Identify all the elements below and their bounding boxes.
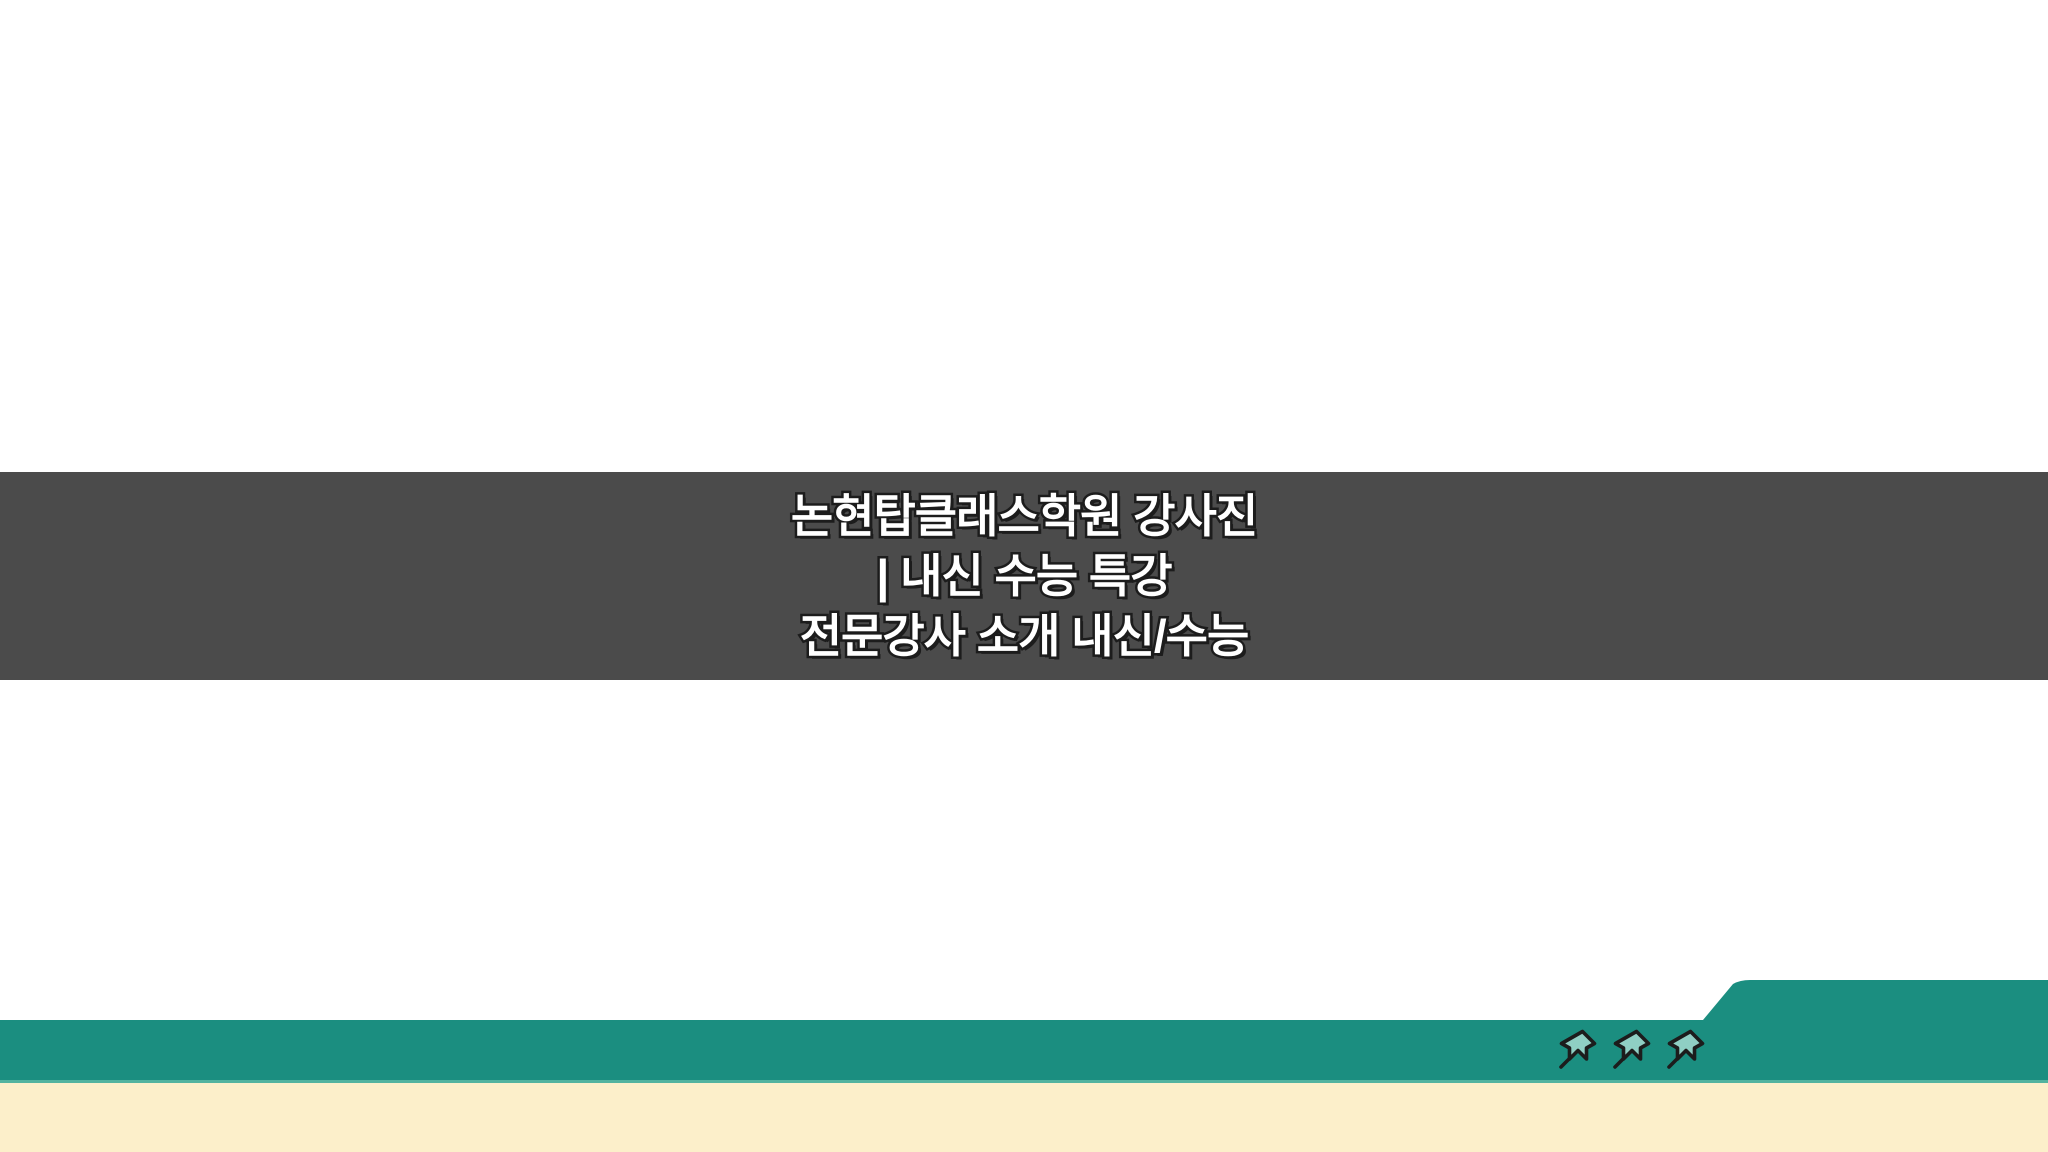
teal-footer-band: [0, 980, 2048, 1083]
title-line-3: 전문강사 소개 내신/수능: [800, 606, 1249, 666]
cream-footer-band: [0, 1083, 2048, 1152]
page-root: 논현탑클래스학원 강사진 | 내신 수능 특강 전문강사 소개 내신/수능: [0, 0, 2048, 1152]
teal-band-shape: [0, 980, 2048, 1083]
top-whitespace: [0, 0, 2048, 472]
title-line-2: | 내신 수능 특강: [876, 546, 1171, 606]
pushpin-icon-2: [1610, 1026, 1654, 1070]
middle-whitespace: [0, 680, 2048, 980]
title-line-1: 논현탑클래스학원 강사진: [791, 486, 1257, 546]
title-banner: 논현탑클래스학원 강사진 | 내신 수능 특강 전문강사 소개 내신/수능: [0, 472, 2048, 680]
pushpin-icon-1: [1556, 1026, 1600, 1070]
pushpin-row: [1556, 1022, 1736, 1074]
pushpin-icon-3: [1664, 1026, 1708, 1070]
